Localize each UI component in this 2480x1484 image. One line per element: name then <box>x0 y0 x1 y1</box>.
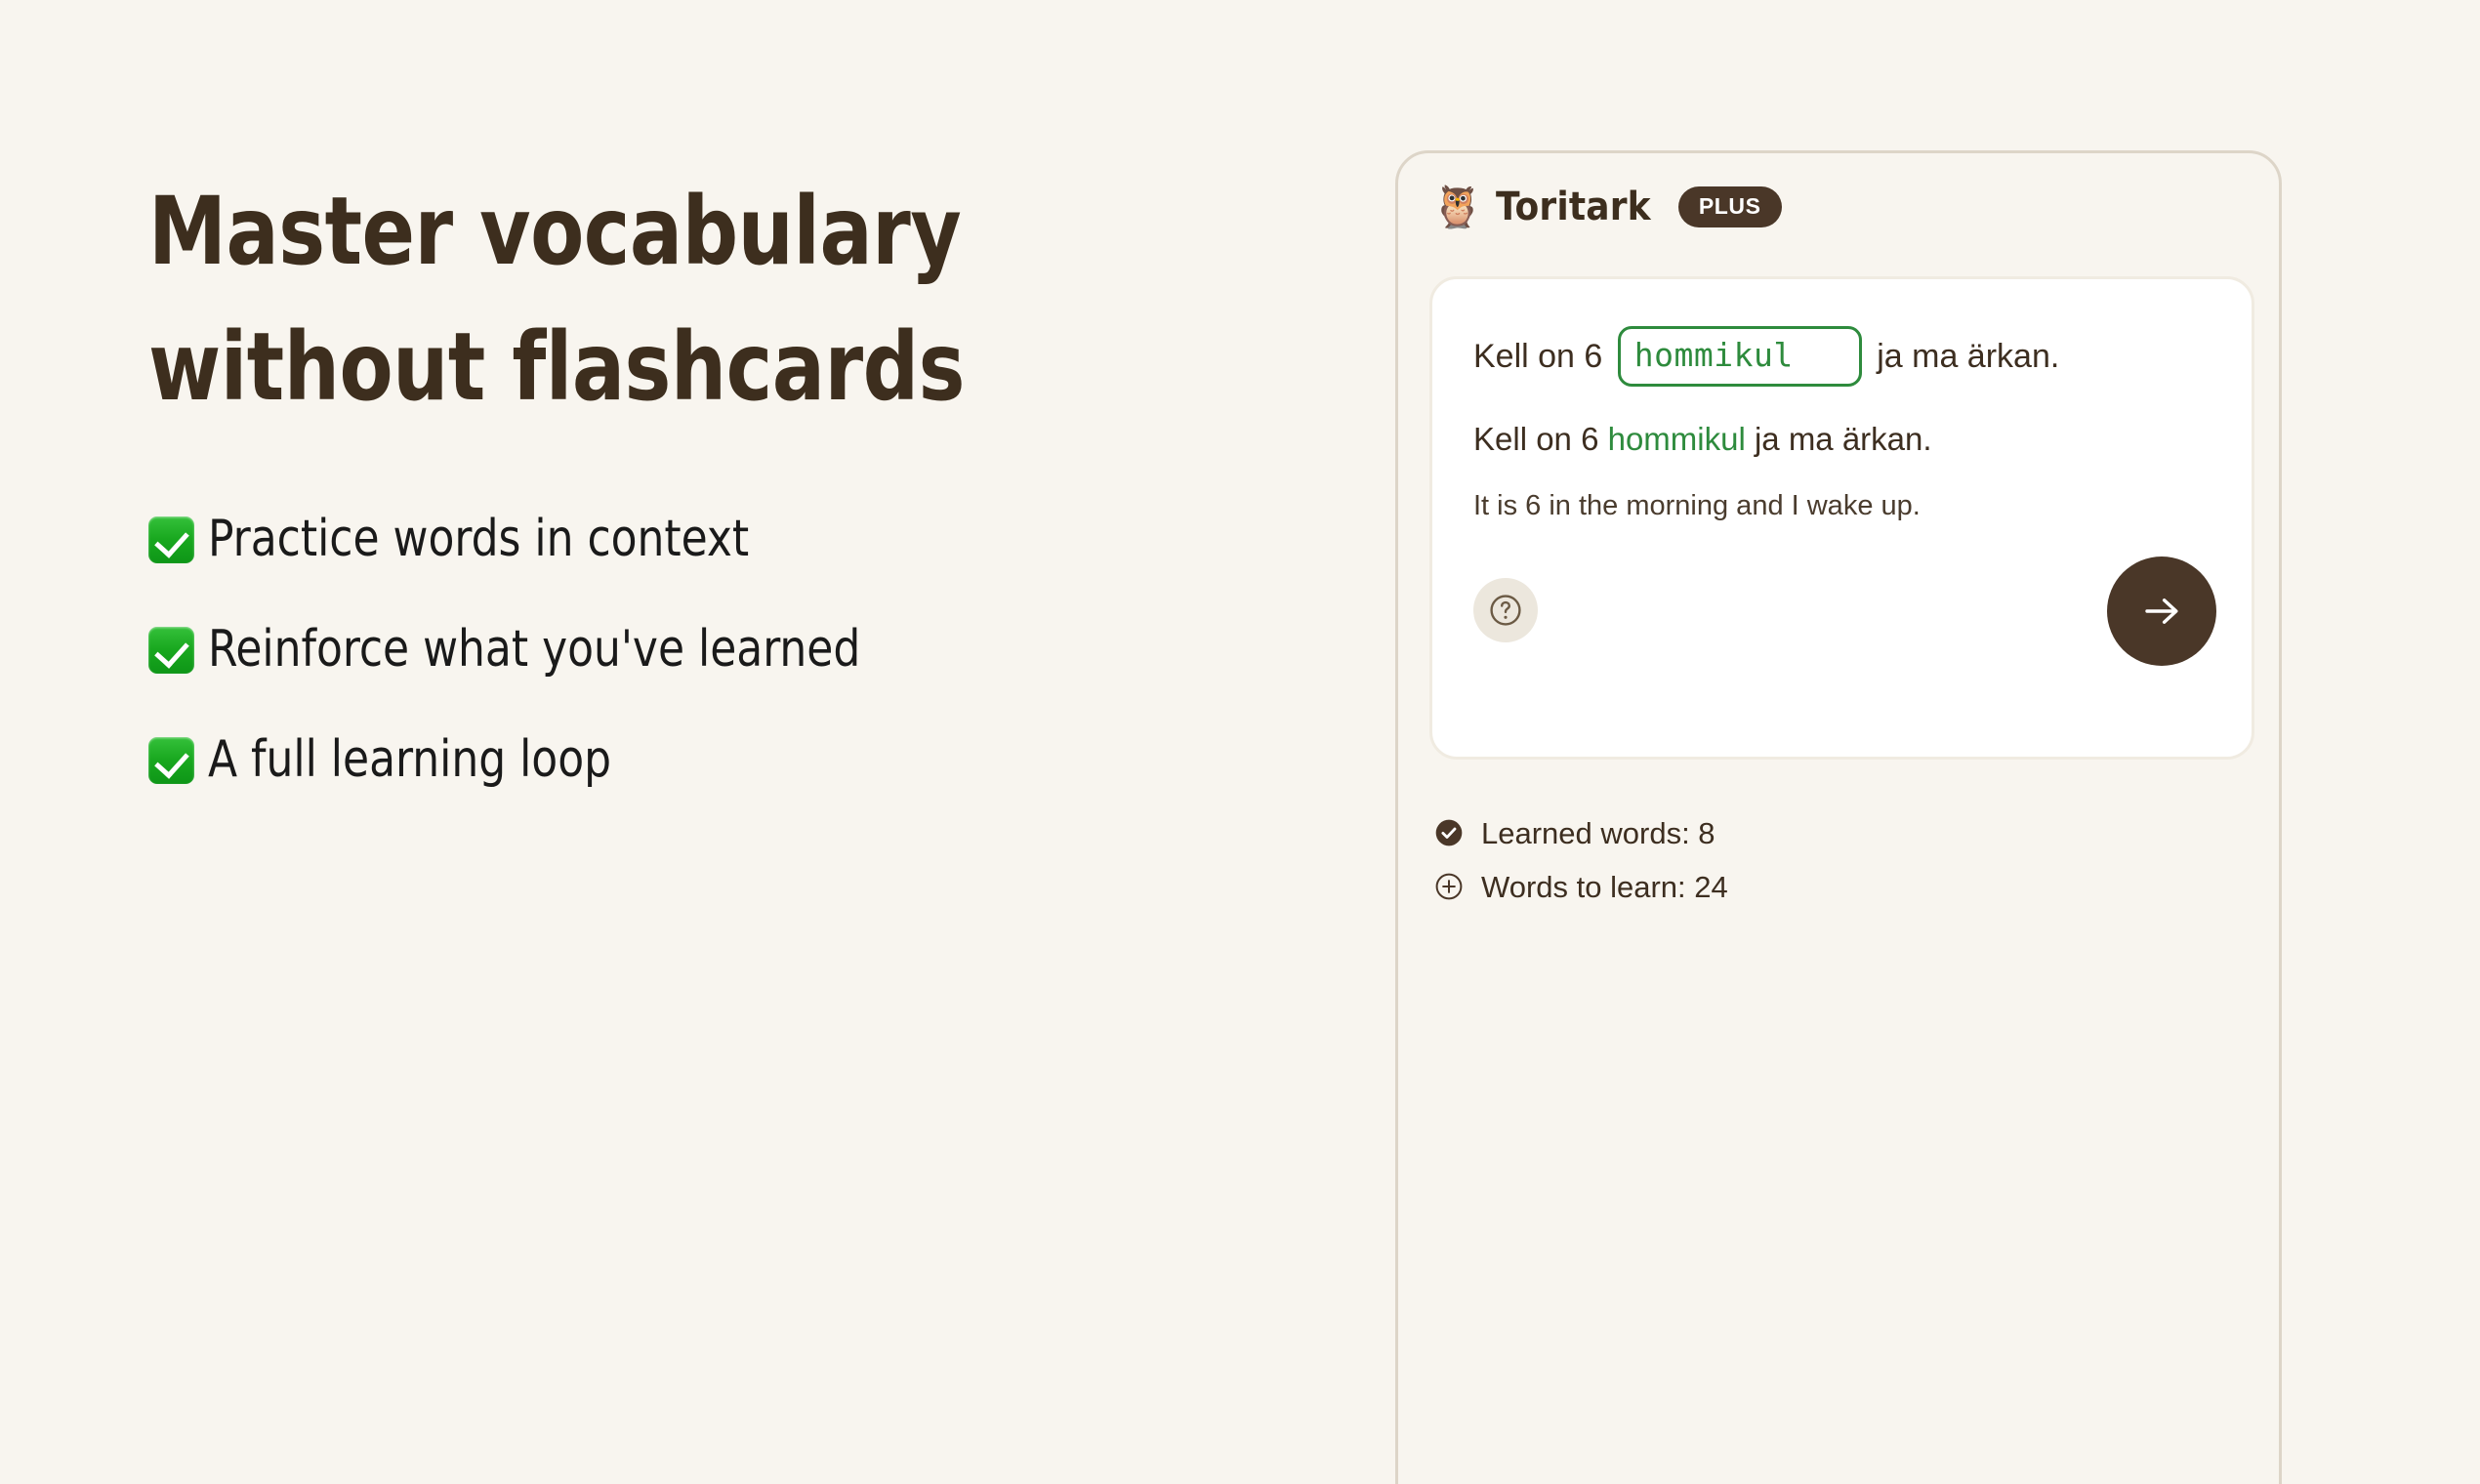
white-heavy-check-mark-emoji-icon <box>148 516 194 563</box>
exercise-card: Kell on 6 hommikul ja ma ärkan. Kell on … <box>1429 276 2254 760</box>
list-item: Practice words in context <box>148 508 1301 571</box>
stat-label: Learned words: 8 <box>1481 818 1715 848</box>
benefit-label: A full learning loop <box>208 728 611 792</box>
exercise-translation: It is 6 in the morning and I wake up. <box>1473 489 2211 523</box>
question-mark-circle-icon <box>1487 592 1524 629</box>
app-preview-panel: 🦉 Toritark PLUS Kell on 6 hommikul ja ma… <box>1395 150 2282 1484</box>
card-actions <box>1473 568 2211 685</box>
progress-stats: Learned words: 8 Words to learn: 24 <box>1433 817 2117 925</box>
plus-badge: PLUS <box>1678 186 1782 227</box>
benefit-label: Reinforce what you've learned <box>208 618 860 681</box>
answer-input[interactable]: hommikul <box>1618 326 1862 387</box>
prompt-text-after: ja ma ärkan. <box>1868 340 2060 373</box>
page-title: Master vocabulary without flashcards <box>148 164 1219 435</box>
list-item: Reinforce what you've learned <box>148 618 1301 681</box>
benefit-label: Practice words in context <box>208 508 749 571</box>
answer-text-before: Kell on 6 <box>1473 421 1608 457</box>
help-button[interactable] <box>1473 578 1538 642</box>
stat-learned-words: Learned words: 8 <box>1433 817 2117 848</box>
check-circle-filled-icon <box>1433 817 1465 848</box>
white-heavy-check-mark-emoji-icon <box>148 627 194 674</box>
white-heavy-check-mark-emoji-icon <box>148 737 194 784</box>
exercise-prompt: Kell on 6 hommikul ja ma ärkan. <box>1473 326 2211 387</box>
list-item: A full learning loop <box>148 728 1301 792</box>
plus-circle-outline-icon <box>1433 871 1465 902</box>
answer-input-value: hommikul <box>1634 338 1794 373</box>
hero-section: Master vocabulary without flashcards Pra… <box>148 164 1301 839</box>
exercise-answer: Kell on 6 hommikul ja ma ärkan. <box>1473 420 2211 459</box>
answer-keyword: hommikul <box>1608 421 1746 457</box>
next-button[interactable] <box>2107 556 2216 666</box>
app-header: 🦉 Toritark PLUS <box>1398 153 2279 229</box>
stat-label: Words to learn: 24 <box>1481 872 1728 902</box>
stat-words-to-learn: Words to learn: 24 <box>1433 871 2117 902</box>
owl-icon: 🦉 <box>1435 185 1480 229</box>
brand-title: Toritark <box>1496 185 1651 229</box>
prompt-text-before: Kell on 6 <box>1473 340 1612 373</box>
arrow-right-icon <box>2138 588 2185 635</box>
answer-text-after: ja ma ärkan. <box>1746 421 1932 457</box>
benefit-list: Practice words in context Reinforce what… <box>148 508 1301 792</box>
